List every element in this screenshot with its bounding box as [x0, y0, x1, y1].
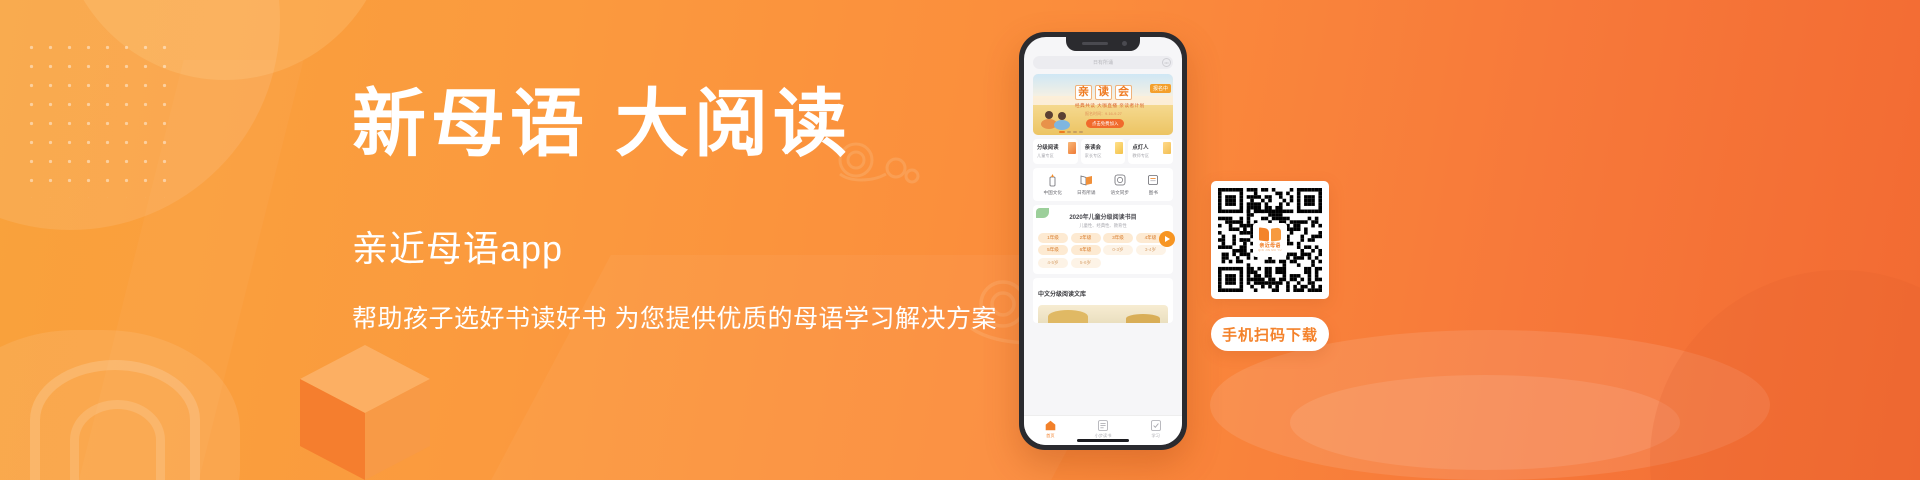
home-indicator [1077, 439, 1129, 442]
download-button-label: 手机扫码下载 [1222, 324, 1318, 345]
book-yellow-icon [1115, 142, 1123, 154]
children-illustration-icon [1039, 104, 1073, 130]
library-section: 中文分级阅读文库 [1033, 278, 1173, 323]
grade-chip[interactable]: 5年级 [1038, 245, 1068, 255]
feature-label: 图书 [1137, 190, 1171, 196]
camera-icon [1122, 41, 1127, 46]
download-button[interactable]: 手机扫码下载 [1211, 317, 1329, 351]
promo-carousel-card[interactable]: 亲 读 会 报名中 经典共读 大咖直播 亲读者计划 报名时间：9.16-9.27… [1033, 74, 1173, 135]
page-title: 新母语大阅读 [352, 88, 1052, 162]
qr-code-card: 亲近母语 QIN JIN MU YU [1211, 181, 1329, 299]
age-chip[interactable]: 0-3岁 [1103, 245, 1133, 255]
booklist-title: 2020年儿童分级阅读书目 [1038, 212, 1168, 221]
carousel-date: 报名时间：9.16-9.27 [1085, 111, 1122, 117]
quick-card-graded-reading[interactable]: 分级阅读 儿童专区 [1033, 139, 1078, 164]
search-placeholder: 日有所诵 [1093, 59, 1113, 66]
decorative-ellipse-shadow-2 [1290, 375, 1680, 470]
tab-small-step-reading[interactable]: 小步读书 [1077, 420, 1130, 439]
qr-center-logo: 亲近母语 QIN JIN MU YU [1253, 223, 1287, 257]
age-chip[interactable]: 4-5岁 [1038, 258, 1068, 268]
decorative-swirl-bottom-left [30, 360, 200, 480]
pager-dot[interactable] [1073, 131, 1077, 133]
library-illustration [1038, 305, 1168, 323]
tab-label: 学习 [1129, 433, 1182, 439]
feature-daily-recitation[interactable]: 日有所诵 [1070, 174, 1104, 196]
phone-screen: 日有所诵 ••• 亲 读 会 [1024, 37, 1182, 445]
decorative-dot-grid [22, 38, 172, 198]
feature-language-sync[interactable]: 语文同步 [1103, 174, 1137, 196]
qr-logo-pinyin: QIN JIN MU YU [1258, 249, 1281, 252]
decorative-cube-icon [300, 345, 430, 480]
phone-notch [1066, 37, 1140, 51]
age-chip[interactable]: 5-6岁 [1071, 258, 1101, 268]
feature-icon-row: 中国文化 日有所诵 [1033, 168, 1173, 201]
more-horizontal-icon[interactable]: ••• [1162, 58, 1171, 67]
carousel-cta-button[interactable]: 点击免费加入 [1086, 119, 1124, 128]
pager-dot[interactable] [1067, 131, 1071, 133]
promo-banner: 新母语大阅读 亲近母语app 帮助孩子选好书读好书 为您提供优质的母语学习解决方… [0, 0, 1920, 480]
qr-download-block: 亲近母语 QIN JIN MU YU 手机扫码下载 [1211, 181, 1329, 351]
grade-chip[interactable]: 3年级 [1103, 233, 1133, 243]
hill-shape-2 [1126, 314, 1160, 323]
tab-label: 小步读书 [1077, 433, 1130, 439]
grade-chip[interactable]: 1年级 [1038, 233, 1068, 243]
search-input[interactable]: 日有所诵 ••• [1033, 56, 1173, 69]
feature-label: 中国文化 [1036, 190, 1070, 196]
grade-chip-group: 1年级 2年级 3年级 4年级 5年级 6年级 0-3岁 3-4岁 4-5岁 5… [1038, 233, 1168, 268]
library-section-title: 中文分级阅读文库 [1038, 292, 1086, 298]
feature-books[interactable]: 图书 [1137, 174, 1171, 196]
age-chip[interactable]: 3-4岁 [1136, 245, 1166, 255]
hill-shape [1048, 310, 1088, 323]
carousel-title-char: 会 [1115, 85, 1132, 100]
quick-cards-row: 分级阅读 儿童专区 亲读会 家长专区 点灯人 教师专区 [1033, 139, 1173, 164]
pager-dot[interactable] [1079, 131, 1083, 133]
decorative-circle-top-left-2 [60, 0, 390, 80]
carousel-title-char: 亲 [1075, 85, 1092, 100]
open-book-icon [1070, 174, 1104, 187]
decorative-ellipse-shadow [1210, 330, 1770, 480]
tagline-label: 帮助孩子选好书读好书 为您提供优质的母语学习解决方案 [352, 299, 1052, 335]
headline-part-1: 新母语 [352, 84, 589, 166]
hero-text-block: 新母语大阅读 亲近母语app 帮助孩子选好书读好书 为您提供优质的母语学习解决方… [352, 88, 1052, 335]
smiley-square-icon [1103, 174, 1137, 187]
leaf-decoration-icon [1036, 208, 1049, 218]
quick-card-lamplighter[interactable]: 点灯人 教师专区 [1128, 139, 1173, 164]
check-clipboard-icon [1129, 420, 1182, 431]
qr-logo-title: 亲近母语 [1259, 242, 1280, 249]
tab-study[interactable]: 学习 [1129, 420, 1182, 439]
play-circle-icon[interactable] [1159, 231, 1175, 247]
booklist-card: 2020年儿童分级阅读书目 儿童性、经典性、教育性 1年级 2年级 3年级 4年… [1033, 205, 1173, 274]
speaker-icon [1082, 42, 1108, 45]
ink-brush-icon [1036, 174, 1070, 187]
feature-label: 日有所诵 [1070, 190, 1104, 196]
decorative-circle-top-left [0, 0, 280, 230]
carousel-subtitle: 经典共读 大咖直播 亲读者计划 [1075, 103, 1145, 109]
carousel-title: 亲 读 会 [1075, 85, 1132, 100]
tab-home[interactable]: 首页 [1024, 420, 1077, 439]
home-icon [1024, 420, 1077, 431]
decorative-diagonal-band-left [76, 60, 303, 480]
carousel-pager[interactable] [1059, 131, 1083, 133]
decorative-blob-bottom-left [0, 330, 240, 480]
decorative-corner-bottom-right [1650, 270, 1920, 480]
quick-card-reading-club[interactable]: 亲读会 家长专区 [1081, 139, 1126, 164]
book-gold-icon [1163, 142, 1171, 154]
carousel-badge: 报名中 [1150, 84, 1171, 93]
grade-chip[interactable]: 6年级 [1071, 245, 1101, 255]
tab-label: 首页 [1024, 433, 1077, 439]
open-book-logo-icon [1259, 228, 1281, 241]
carousel-title-char: 读 [1095, 85, 1112, 100]
booklist-subtitle: 儿童性、经典性、教育性 [1038, 223, 1168, 229]
list-icon [1077, 420, 1130, 431]
feature-label: 语文同步 [1103, 190, 1137, 196]
pager-dot[interactable] [1059, 131, 1065, 133]
book-orange-icon [1068, 142, 1076, 154]
headline-part-2: 大阅读 [615, 84, 852, 166]
library-icon [1137, 174, 1171, 187]
decorative-swirl-bottom-left-2 [70, 400, 165, 480]
app-name-label: 亲近母语app [352, 220, 1052, 272]
grade-chip[interactable]: 2年级 [1071, 233, 1101, 243]
phone-mockup: 日有所诵 ••• 亲 读 会 [1019, 32, 1187, 450]
feature-chinese-culture[interactable]: 中国文化 [1036, 174, 1070, 196]
